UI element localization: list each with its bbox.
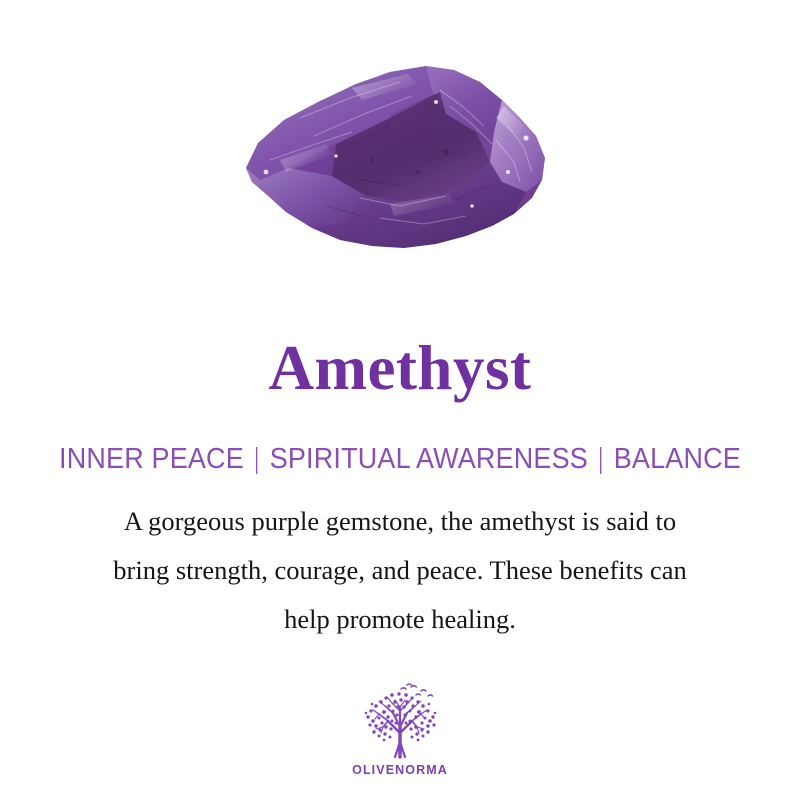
gemstone-image-container [0, 0, 800, 320]
description-line-3: help promote healing. [50, 595, 750, 644]
keyword-separator-2: | [593, 443, 608, 476]
description-line-2: bring strength, courage, and peace. Thes… [50, 546, 750, 595]
brand-logo: OLIVENORMA [0, 683, 800, 777]
product-description: A gorgeous purple gemstone, the amethyst… [50, 497, 750, 644]
product-title: Amethyst [0, 335, 800, 401]
keyword-balance: BALANCE [614, 443, 741, 475]
description-line-1: A gorgeous purple gemstone, the amethyst… [50, 497, 750, 546]
amethyst-raw-crystal-image [240, 40, 560, 280]
tree-with-birds-icon [355, 683, 445, 761]
keyword-inner-peace: INNER PEACE [59, 443, 244, 475]
product-info-card: Amethyst INNER PEACE|SPIRITUAL AWARENESS… [0, 0, 800, 800]
keywords-line: INNER PEACE|SPIRITUAL AWARENESS|BALANCE [28, 443, 772, 476]
brand-name: OLIVENORMA [352, 763, 448, 777]
gem-body [240, 40, 560, 280]
keyword-separator-1: | [249, 443, 264, 476]
keyword-spiritual-awareness: SPIRITUAL AWARENESS [270, 443, 588, 475]
